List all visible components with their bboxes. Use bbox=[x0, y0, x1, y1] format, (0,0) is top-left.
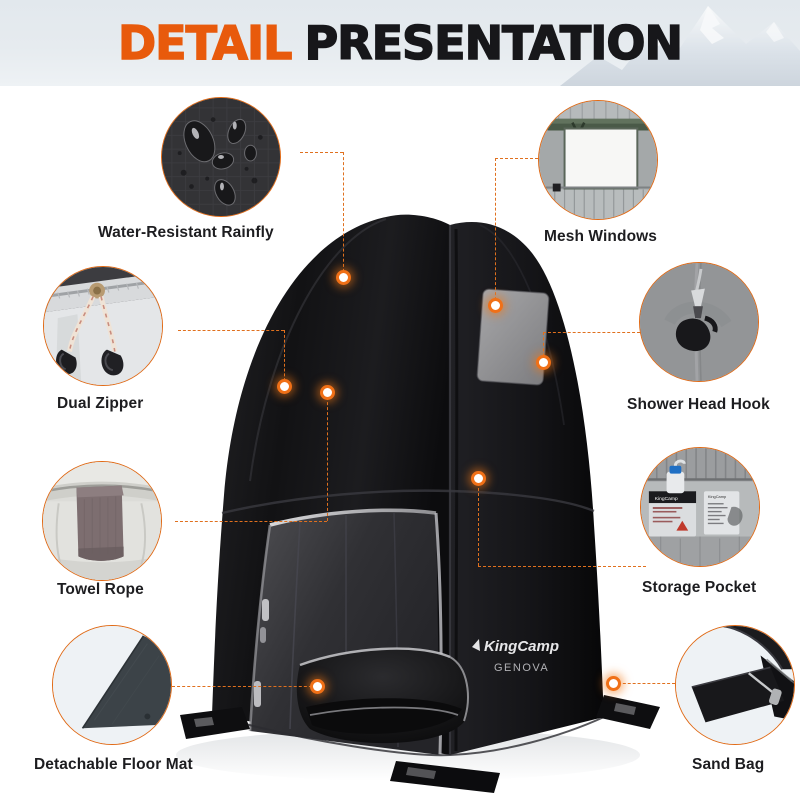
connector-floormat-h bbox=[172, 686, 317, 687]
infographic-canvas: DETAIL PRESENTATION bbox=[0, 0, 800, 800]
marker-dot-pocket[interactable] bbox=[471, 471, 486, 486]
svg-text:KingCamp: KingCamp bbox=[655, 496, 678, 502]
thumb-detachable-floor-mat[interactable] bbox=[52, 625, 172, 745]
marker-dot-mesh[interactable] bbox=[488, 298, 503, 313]
connector-pocket-v bbox=[478, 478, 479, 566]
marker-dot-towel[interactable] bbox=[320, 385, 335, 400]
connector-pocket-h bbox=[478, 566, 646, 567]
label-storage-pocket: Storage Pocket bbox=[642, 579, 756, 597]
title-word-presentation: PRESENTATION bbox=[304, 20, 682, 66]
sand-bag-photo bbox=[676, 626, 794, 744]
label-mesh-windows: Mesh Windows bbox=[544, 228, 657, 246]
connector-rainfly-h bbox=[300, 152, 343, 153]
title-word-detail: DETAIL bbox=[118, 20, 291, 66]
svg-text:KingCamp: KingCamp bbox=[484, 638, 559, 655]
svg-text:GENOVA: GENOVA bbox=[494, 662, 549, 674]
marker-dot-rainfly[interactable] bbox=[336, 270, 351, 285]
thumb-sand-bag[interactable] bbox=[675, 625, 795, 745]
dual-zipper-photo bbox=[44, 267, 162, 385]
marker-dot-hook[interactable] bbox=[536, 355, 551, 370]
label-sand-bag: Sand Bag bbox=[692, 756, 764, 774]
thumb-storage-pocket[interactable]: KingCamp KingCamp bbox=[640, 447, 760, 567]
label-detachable-floor-mat: Detachable Floor Mat bbox=[34, 756, 193, 774]
connector-zipper-h bbox=[178, 330, 284, 331]
connector-zipper-v bbox=[284, 330, 285, 386]
svg-text:KingCamp: KingCamp bbox=[708, 494, 727, 499]
thumb-towel-rope[interactable] bbox=[42, 461, 162, 581]
marker-dot-zipper[interactable] bbox=[277, 379, 292, 394]
label-dual-zipper: Dual Zipper bbox=[57, 395, 143, 413]
label-water-resistant-rainfly: Water-Resistant Rainfly bbox=[98, 224, 274, 242]
thumb-dual-zipper[interactable] bbox=[43, 266, 163, 386]
thumb-water-resistant-rainfly[interactable] bbox=[161, 97, 281, 217]
thumb-shower-head-hook[interactable] bbox=[639, 262, 759, 382]
marker-dot-sandbag[interactable] bbox=[606, 676, 621, 691]
floor-mat-photo bbox=[53, 626, 171, 744]
product-tent-image: KingCamp GENOVA bbox=[150, 195, 670, 795]
label-shower-head-hook: Shower Head Hook bbox=[627, 396, 770, 414]
marker-dot-floormat[interactable] bbox=[310, 679, 325, 694]
storage-pocket-photo: KingCamp KingCamp bbox=[641, 448, 759, 566]
connector-towel-h bbox=[175, 521, 327, 522]
connector-mesh-v bbox=[495, 158, 496, 305]
towel-rope-photo bbox=[43, 462, 161, 580]
connector-sandbag-h bbox=[613, 683, 675, 684]
connector-hook-h bbox=[543, 332, 640, 333]
page-title: DETAIL PRESENTATION bbox=[0, 0, 800, 86]
connector-rainfly-v bbox=[343, 152, 344, 277]
label-towel-rope: Towel Rope bbox=[57, 581, 144, 599]
connector-towel-v bbox=[327, 392, 328, 521]
connector-mesh-h bbox=[495, 158, 538, 159]
shower-hook-photo bbox=[640, 263, 758, 381]
header-banner: DETAIL PRESENTATION bbox=[0, 0, 800, 86]
thumb-mesh-windows[interactable] bbox=[538, 100, 658, 220]
mesh-window-photo bbox=[539, 101, 657, 219]
rainfly-waterbeads-photo bbox=[162, 98, 280, 216]
